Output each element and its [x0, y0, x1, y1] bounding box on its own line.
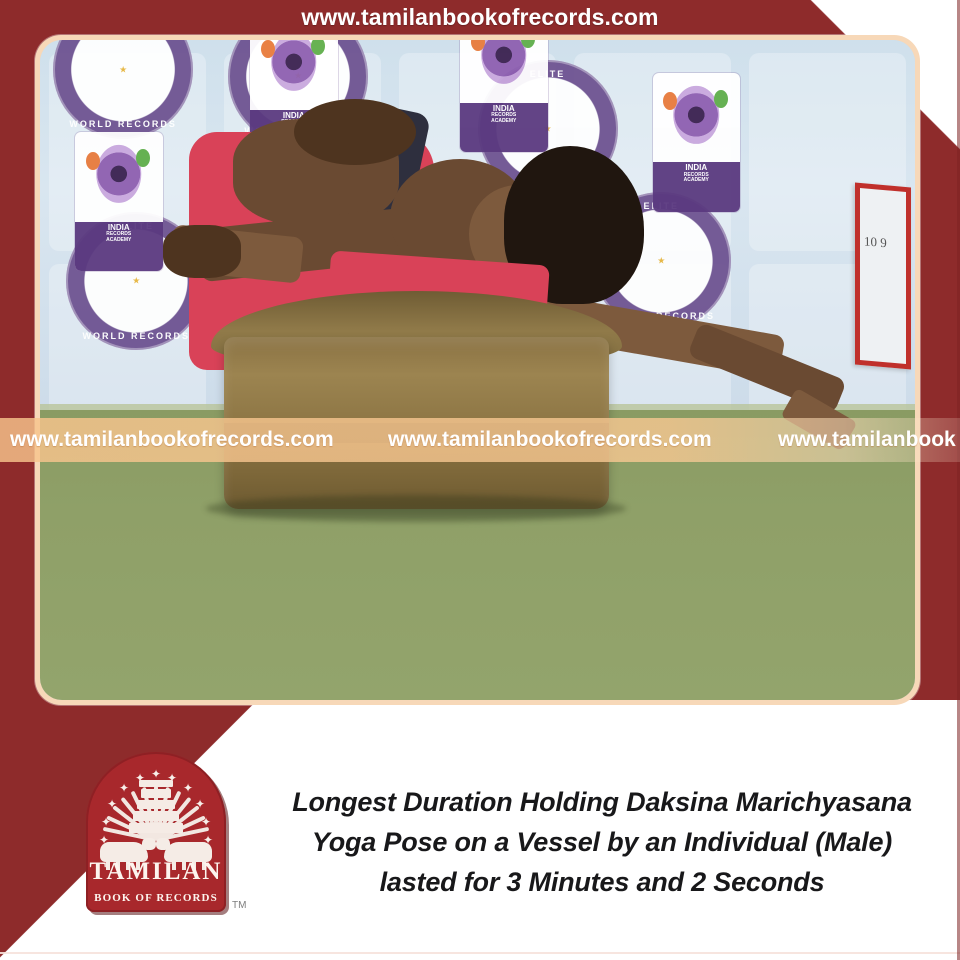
watermark-text: www.tamilanbookofrecords.com	[388, 428, 712, 452]
logo-shield-shape: ✦ ✦ ✦ ✦ ✦ ✦ ✦ ✦ ✦ ✦ ✦	[86, 752, 226, 912]
watermark-band: www.tamilanbookofrecords.com www.tamilan…	[0, 418, 960, 462]
poster-canvas: www.tamilanbookofrecords.com ELITE	[0, 0, 960, 960]
vessel-ground-shadow	[206, 495, 626, 521]
logo-brand-subtitle: BOOK OF RECORDS	[86, 892, 226, 904]
caption-line-2: Yoga Pose on a Vessel by an Individual (…	[252, 822, 952, 862]
watermark-text: www.tamilanbookofrecords.com	[10, 428, 334, 452]
performer-knee	[294, 99, 417, 165]
logo-brand-name: TAMILAN	[86, 858, 226, 886]
header-website-url: www.tamilanbookofrecords.com	[0, 2, 960, 32]
caption-line-1: Longest Duration Holding Daksina Marichy…	[252, 782, 952, 822]
bottom-hairline	[0, 952, 960, 954]
photo-frame: ELITE ★ WORLD RECORDS ELITE ★ WORLD RECO…	[35, 35, 920, 705]
performer-clasped-hands	[163, 225, 242, 278]
record-photo: ELITE ★ WORLD RECORDS ELITE ★ WORLD RECO…	[40, 40, 915, 700]
tamilan-book-of-records-logo: ✦ ✦ ✦ ✦ ✦ ✦ ✦ ✦ ✦ ✦ ✦	[86, 752, 236, 920]
record-caption: Longest Duration Holding Daksina Marichy…	[252, 782, 952, 902]
caption-line-3: lasted for 3 Minutes and 2 Seconds	[252, 862, 952, 902]
logo-trademark-mark: TM	[232, 900, 246, 911]
watermark-text: www.tamilanbook	[778, 428, 956, 452]
